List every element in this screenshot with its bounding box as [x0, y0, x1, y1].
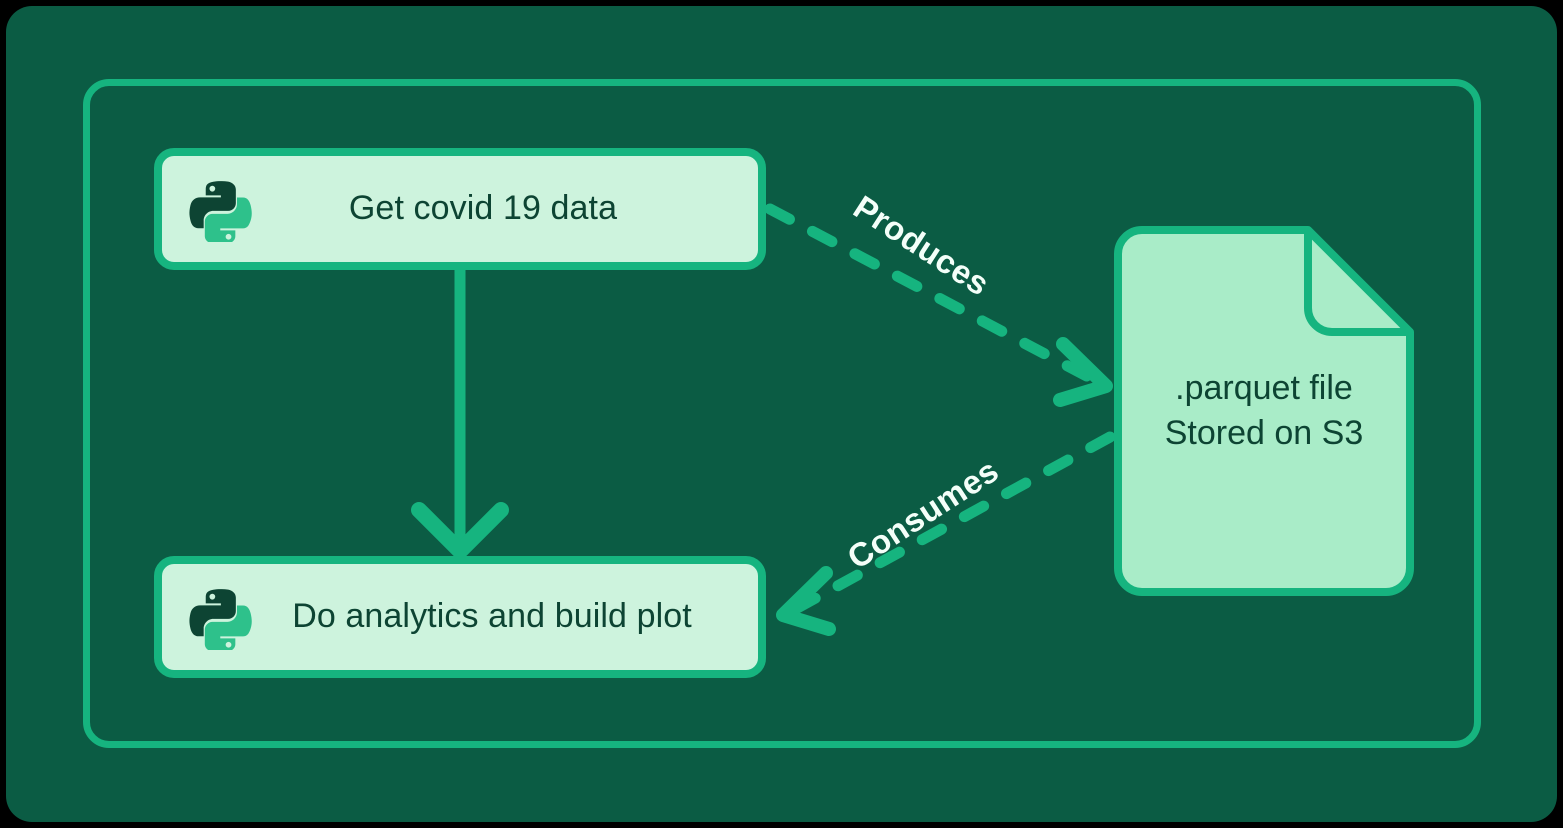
file-label-block: .parquet file Stored on S3	[1114, 226, 1414, 596]
python-logo-icon	[188, 176, 254, 242]
node-do-analytics-and-build-plot[interactable]: Do analytics and build plot	[154, 556, 766, 678]
node-label: Get covid 19 data	[254, 190, 758, 227]
python-logo-icon	[188, 584, 254, 650]
node-parquet-file-dataset[interactable]: .parquet file Stored on S3	[1114, 226, 1414, 596]
file-label-line-2: Stored on S3	[1165, 411, 1363, 456]
diagram-canvas: Get covid 19 data Do analytics and build…	[0, 0, 1563, 828]
node-get-covid-19-data[interactable]: Get covid 19 data	[154, 148, 766, 270]
node-label: Do analytics and build plot	[254, 598, 758, 635]
file-label-line-1: .parquet file	[1175, 366, 1353, 411]
